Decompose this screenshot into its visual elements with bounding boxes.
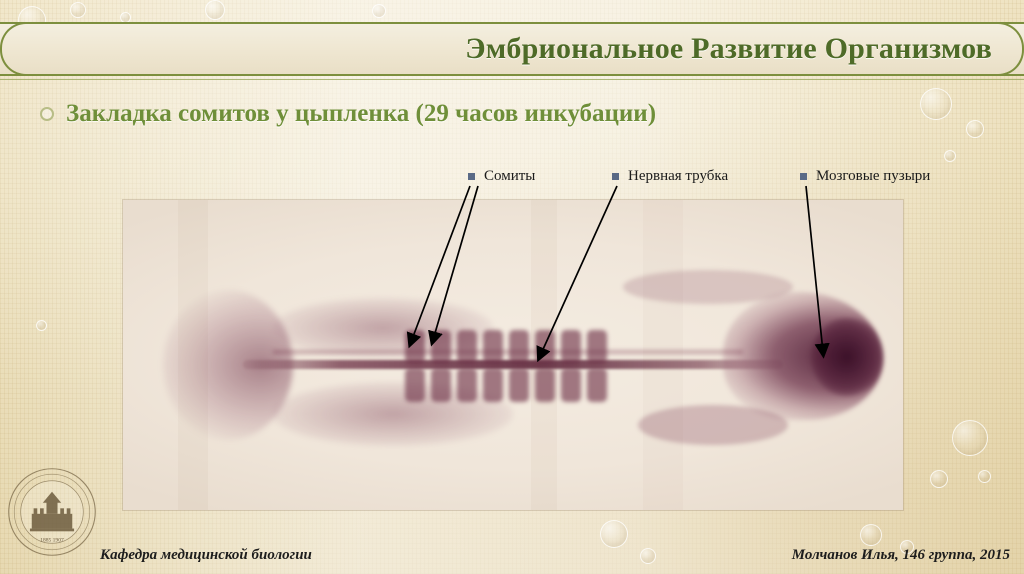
embryo-forebrain-dense <box>811 318 883 396</box>
somite-block <box>587 330 607 364</box>
square-marker-icon <box>800 173 807 180</box>
label-neural-tube-text: Нервная трубка <box>628 168 728 185</box>
bubble-decor <box>966 120 984 138</box>
somite-block <box>405 330 425 364</box>
somite-block <box>561 368 581 402</box>
somite-block <box>457 368 477 402</box>
subtitle-row: Закладка сомитов у цыпленка (29 часов ин… <box>40 100 656 128</box>
label-brain-vesicles: Мозговые пузыри <box>800 168 930 185</box>
bubble-decor <box>36 320 47 331</box>
label-somites-text: Сомиты <box>484 168 535 185</box>
emblem-years: 1885 1907 <box>40 537 64 543</box>
somite-block <box>431 368 451 402</box>
square-marker-icon <box>612 173 619 180</box>
somite-block <box>509 368 529 402</box>
label-neural-tube: Нервная трубка <box>612 168 728 185</box>
somite-block <box>457 330 477 364</box>
somite-block <box>509 330 529 364</box>
bubble-decor <box>860 524 882 546</box>
bubble-decor <box>600 520 628 548</box>
bubble-decor <box>952 420 988 456</box>
somite-block <box>431 330 451 364</box>
embryo-blastoderm-lower <box>273 382 513 446</box>
university-emblem-icon: 1885 1907 <box>6 466 98 558</box>
somite-block <box>587 368 607 402</box>
embryo-streak <box>638 405 788 445</box>
bubble-decor <box>920 88 952 120</box>
bubble-decor <box>944 150 956 162</box>
square-marker-icon <box>468 173 475 180</box>
embryo-structures <box>123 200 903 510</box>
ring-bullet-icon <box>40 107 54 121</box>
somite-block <box>405 368 425 402</box>
somite-block <box>535 330 555 364</box>
footer-left-text: Кафедра медицинской биологии <box>100 547 312 564</box>
somite-block <box>483 330 503 364</box>
label-brain-vesicles-text: Мозговые пузыри <box>816 168 930 185</box>
subtitle-text: Закладка сомитов у цыпленка (29 часов ин… <box>66 100 656 128</box>
label-somites: Сомиты <box>468 168 535 185</box>
somite-block <box>535 368 555 402</box>
embryo-streak <box>623 270 793 304</box>
bubble-decor <box>372 4 386 18</box>
somite-block <box>561 330 581 364</box>
bubble-decor <box>978 470 991 483</box>
bubble-decor <box>640 548 656 564</box>
somite-block <box>483 368 503 402</box>
page-title: Эмбриональное Развитие Организмов <box>0 22 1014 76</box>
bubble-decor <box>930 470 948 488</box>
slide: Эмбриональное Развитие Организмов Заклад… <box>0 0 1024 574</box>
bubble-decor <box>70 2 86 18</box>
embryo-axial-haze <box>273 350 743 354</box>
embryo-photograph <box>123 200 903 510</box>
footer-right-text: Молчанов Илья, 146 группа, 2015 <box>792 547 1010 564</box>
bubble-decor <box>205 0 225 20</box>
